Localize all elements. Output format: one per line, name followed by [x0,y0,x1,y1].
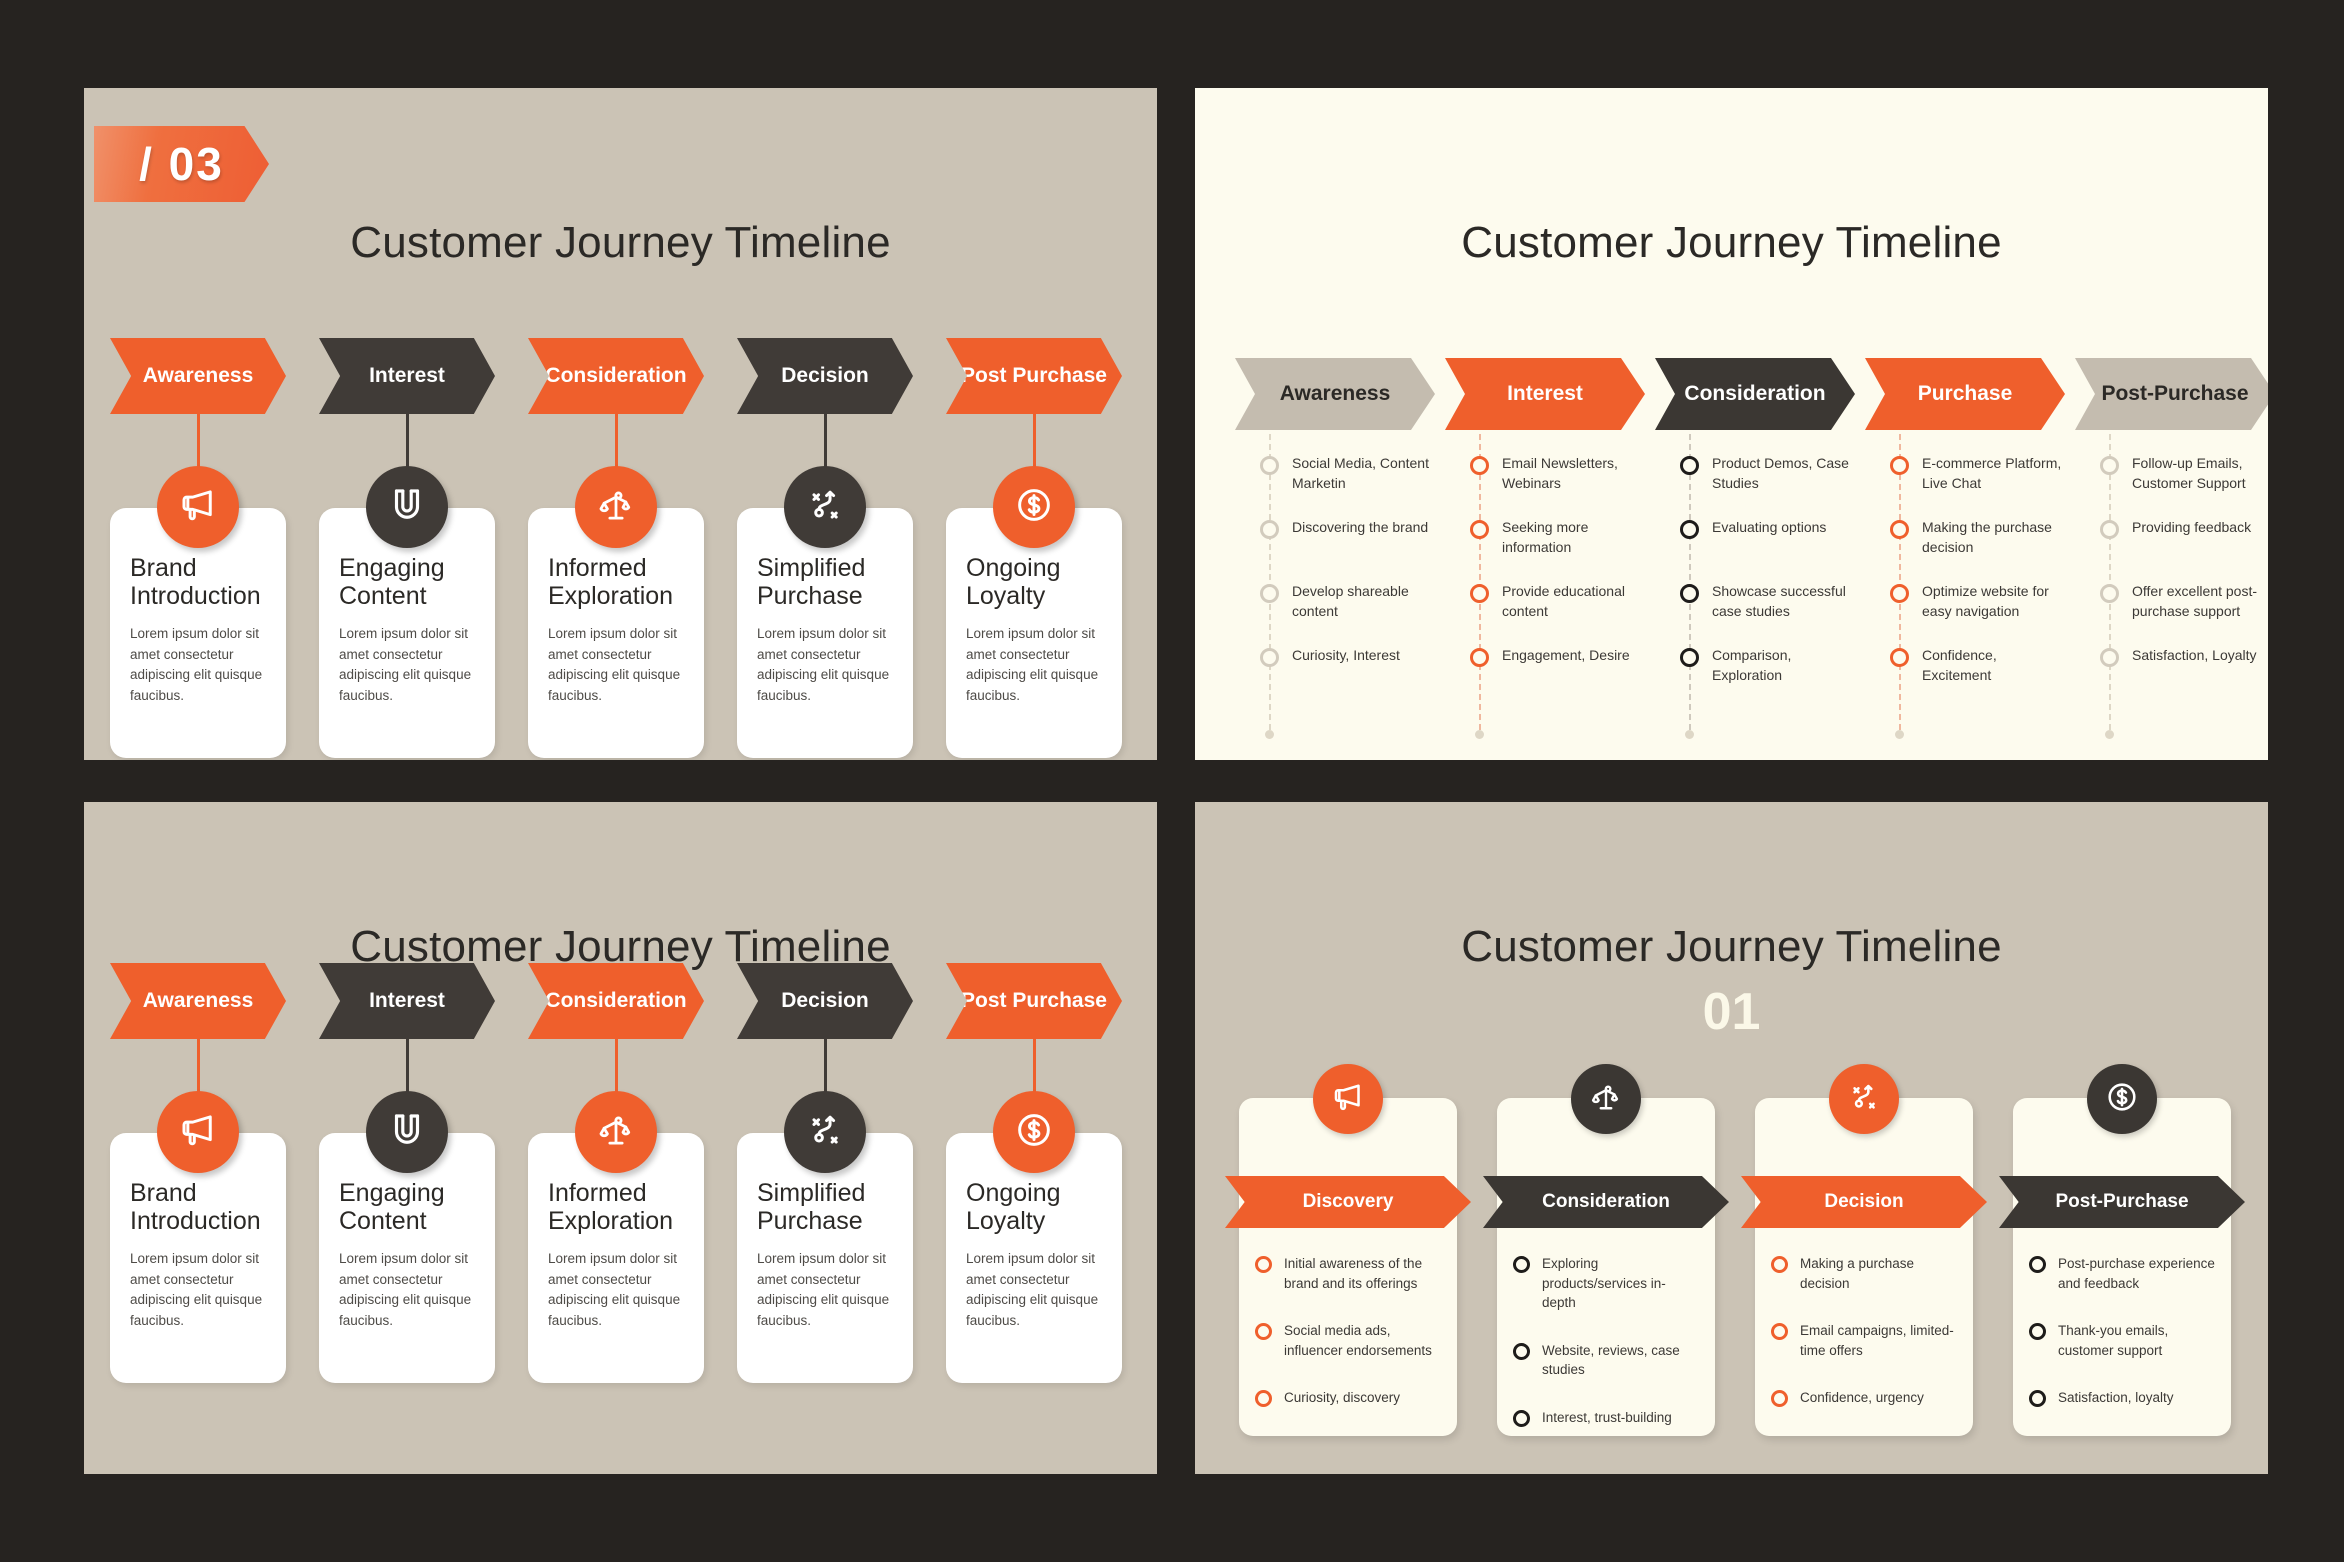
list-item-label: Develop shareable content [1292,582,1435,622]
list-item[interactable]: Provide educational content [1445,582,1645,622]
panel-top-left: / 03 Customer Journey Timeline Awareness… [84,88,1157,760]
list-item[interactable]: Confidence, urgency [1771,1388,1957,1408]
bullet-ring-icon [2029,1256,2046,1273]
stage-card-body: Lorem ipsum dolor sit amet consectetur a… [548,624,684,706]
list-item-label: E-commerce Platform, Live Chat [1922,454,2065,494]
stage-card-heading: Simplified Purchase [757,554,893,610]
list-item-label: Product Demos, Case Studies [1712,454,1855,494]
timeline-end-dot [1265,730,1274,739]
list-item[interactable]: Satisfaction, Loyalty [2075,646,2268,667]
list-item[interactable]: Email campaigns, limited-time offers [1771,1321,1957,1360]
stage-item-list: Initial awareness of the brand and its o… [1239,1254,1457,1436]
stage-chevron-label: Interest [369,989,445,1013]
bullet-ring-icon [1255,1323,1272,1340]
list-item-label: Thank-you emails, customer support [2058,1321,2215,1360]
stage-connector-line [406,414,409,474]
list-item-label: Interest, trust-building [1542,1408,1672,1428]
stage-chevron[interactable]: Decision [737,338,913,414]
list-item-label: Making the purchase decision [1922,518,2065,558]
stage-connector-line [1033,414,1036,474]
bullet-ring-icon [1680,520,1699,539]
stage-chevron-label: Post Purchase [961,989,1107,1013]
scales-icon [1588,1079,1624,1120]
journey-stage-column: InterestEngaging ContentLorem ipsum dolo… [319,338,495,414]
list-item-label: Satisfaction, loyalty [2058,1388,2174,1408]
journey-stage-column: Post PurchaseOngoing LoyaltyLorem ipsum … [946,338,1122,414]
journey-stage-column: AwarenessSocial Media, Content MarketinD… [1235,358,1435,430]
list-item[interactable]: Follow-up Emails, Customer Support [2075,454,2268,494]
stage-icon-bubble[interactable] [2087,1064,2157,1134]
journey-stage-column: ConsiderationProduct Demos, Case Studies… [1655,358,1855,430]
list-item-label: Showcase successful case studies [1712,582,1855,622]
stage-chevron[interactable]: Awareness [110,338,286,414]
list-item[interactable]: Curiosity, discovery [1255,1388,1441,1408]
list-item[interactable]: Website, reviews, case studies [1513,1341,1699,1380]
bullet-ring-icon [1890,456,1909,475]
stage-icon-bubble[interactable] [993,1091,1075,1173]
stage-chevron[interactable]: Discovery [1225,1176,1471,1228]
bullet-ring-icon [1470,456,1489,475]
list-item[interactable]: Making a purchase decision [1771,1254,1957,1293]
stage-chevron[interactable]: Consideration [528,963,704,1039]
list-item-label: Seeking more information [1502,518,1645,558]
stage-icon-bubble[interactable] [157,1091,239,1173]
list-item-label: Evaluating options [1712,518,1826,539]
bullet-ring-icon [1470,584,1489,603]
stage-icon-bubble[interactable] [1829,1064,1899,1134]
list-item-label: Confidence, urgency [1800,1388,1924,1408]
list-item-label: Curiosity, discovery [1284,1388,1400,1408]
timeline-end-dot [1685,730,1694,739]
stage-card-body: Lorem ipsum dolor sit amet consectetur a… [966,1249,1102,1331]
dollar-coin-icon [1013,1109,1055,1156]
stage-card-heading: Brand Introduction [130,554,266,610]
magnet-icon [386,1109,428,1156]
stage-card-heading: Brand Introduction [130,1179,266,1235]
list-item[interactable]: Making the purchase decision [1865,518,2065,558]
stage-chevron[interactable]: Consideration [1655,358,1855,430]
stage-icon-bubble[interactable] [1313,1064,1383,1134]
journey-stage-column: InterestEngaging ContentLorem ipsum dolo… [319,963,495,1039]
list-item-label: Optimize website for easy navigation [1922,582,2065,622]
stage-icon-bubble[interactable] [784,466,866,548]
list-item[interactable]: Develop shareable content [1235,582,1435,622]
timeline-end-dot [2105,730,2114,739]
stage-icon-bubble[interactable] [575,466,657,548]
list-item[interactable]: Satisfaction, loyalty [2029,1388,2215,1408]
list-item[interactable]: Post-purchase experience and feedback [2029,1254,2215,1293]
slide-number-badge: / 03 [94,126,269,202]
bullet-ring-icon [2100,648,2119,667]
journey-stage-column: ConsiderationInformed ExplorationLorem i… [528,338,704,414]
journey-stage-column: Post-PurchaseFollow-up Emails, Customer … [2075,358,2268,430]
timeline-end-dot [1475,730,1484,739]
stage-card-heading: Engaging Content [339,554,475,610]
stage-chevron-label: Purchase [1918,382,2013,406]
stage-item-list: Making a purchase decisionEmail campaign… [1755,1254,1973,1436]
stage-chevron[interactable]: Awareness [110,963,286,1039]
stage-chevron-label: Interest [369,364,445,388]
stage-chevron[interactable]: Consideration [528,338,704,414]
bullet-ring-icon [1260,648,1279,667]
bullet-ring-icon [1890,520,1909,539]
bullet-ring-icon [1771,1323,1788,1340]
list-item[interactable]: Confidence, Excitement [1865,646,2065,686]
stage-chevron-label: Consideration [1542,1191,1670,1213]
stage-item-list: Post-purchase experience and feedbackTha… [2013,1254,2231,1436]
list-item-label: Initial awareness of the brand and its o… [1284,1254,1441,1293]
list-item-label: Engagement, Desire [1502,646,1630,667]
stage-icon-bubble[interactable] [366,1091,448,1173]
stage-chevron-label: Consideration [545,989,686,1013]
list-item-label: Comparison, Exploration [1712,646,1855,686]
dollar-coin-icon [2104,1079,2140,1120]
list-item[interactable]: Providing feedback [2075,518,2268,539]
bullet-ring-icon [1513,1410,1530,1427]
stage-card-heading: Ongoing Loyalty [966,1179,1102,1235]
stage-icon-bubble[interactable] [157,466,239,548]
list-item-label: Offer excellent post-purchase support [2132,582,2268,622]
bullet-ring-icon [1255,1390,1272,1407]
stage-chevron-label: Awareness [1280,382,1391,406]
page-title: Customer Journey Timeline [1195,218,2268,268]
stage-chevron[interactable]: Decision [1741,1176,1987,1228]
stage-chevron[interactable]: Consideration [1483,1176,1729,1228]
list-item[interactable]: Initial awareness of the brand and its o… [1255,1254,1441,1293]
bullet-ring-icon [2100,456,2119,475]
bullet-ring-icon [1771,1256,1788,1273]
stage-connector-line [824,1039,827,1099]
journey-stage-column: AwarenessBrand IntroductionLorem ipsum d… [110,963,286,1039]
journey-stage-column: DecisionSimplified PurchaseLorem ipsum d… [737,963,913,1039]
stage-card-body: Lorem ipsum dolor sit amet consectetur a… [966,624,1102,706]
stage-icon-bubble[interactable] [784,1091,866,1173]
stage-card-heading: Ongoing Loyalty [966,554,1102,610]
stage-chevron-label: Post-Purchase [2055,1191,2188,1213]
stage-chevron-label: Consideration [545,364,686,388]
stage-chevron-label: Decision [781,989,869,1013]
list-item[interactable]: Seeking more information [1445,518,1645,558]
bullet-ring-icon [1771,1390,1788,1407]
stage-card-body: Lorem ipsum dolor sit amet consectetur a… [339,1249,475,1331]
bullet-ring-icon [1680,584,1699,603]
list-item-label: Exploring products/services in-depth [1542,1254,1699,1313]
list-item-label: Email campaigns, limited-time offers [1800,1321,1957,1360]
stage-chevron-label: Post-Purchase [2101,382,2248,406]
page-title: Customer Journey Timeline [84,218,1157,268]
stage-icon-bubble[interactable] [575,1091,657,1173]
list-item[interactable]: Product Demos, Case Studies [1655,454,1855,494]
journey-stage-column: PurchaseE-commerce Platform, Live ChatMa… [1865,358,2065,430]
list-item[interactable]: Social media ads, influencer endorsement… [1255,1321,1441,1360]
stage-card-heading: Engaging Content [339,1179,475,1235]
list-item[interactable]: Engagement, Desire [1445,646,1645,667]
stage-card-body: Lorem ipsum dolor sit amet consectetur a… [757,1249,893,1331]
bullet-ring-icon [1255,1256,1272,1273]
stage-connector-line [197,1039,200,1099]
list-item-label: Follow-up Emails, Customer Support [2132,454,2268,494]
list-item[interactable]: Discovering the brand [1235,518,1435,539]
badge-label: / 03 [139,137,224,191]
stage-chevron[interactable]: Purchase [1865,358,2065,430]
journey-stage-column: ConsiderationInformed ExplorationLorem i… [528,963,704,1039]
list-item[interactable]: Social Media, Content Marketin [1235,454,1435,494]
bullet-ring-icon [1260,456,1279,475]
scales-icon [595,484,637,531]
strategy-icon [1846,1079,1882,1120]
strategy-icon [804,1109,846,1156]
list-item[interactable]: Curiosity, Interest [1235,646,1435,667]
slide-number: 01 [1195,982,2268,1042]
bullet-ring-icon [1513,1343,1530,1360]
stage-chevron-label: Decision [781,364,869,388]
stage-card-body: Lorem ipsum dolor sit amet consectetur a… [130,624,266,706]
list-item[interactable]: Interest, trust-building [1513,1408,1699,1428]
list-item[interactable]: E-commerce Platform, Live Chat [1865,454,2065,494]
stage-chevron[interactable]: Awareness [1235,358,1435,430]
stage-card-body: Lorem ipsum dolor sit amet consectetur a… [757,624,893,706]
list-item[interactable]: Optimize website for easy navigation [1865,582,2065,622]
stage-chevron[interactable]: Decision [737,963,913,1039]
list-item[interactable]: Email Newsletters, Webinars [1445,454,1645,494]
list-item-label: Email Newsletters, Webinars [1502,454,1645,494]
stage-icon-bubble[interactable] [993,466,1075,548]
list-item-label: Confidence, Excitement [1922,646,2065,686]
stage-chevron-label: Discovery [1303,1191,1394,1213]
strategy-icon [804,484,846,531]
bullet-ring-icon [1890,648,1909,667]
stage-chevron[interactable]: Post Purchase [946,338,1122,414]
journey-stage-column: AwarenessBrand IntroductionLorem ipsum d… [110,338,286,414]
panel-bottom-left: Customer Journey Timeline AwarenessBrand… [84,802,1157,1474]
list-item[interactable]: Thank-you emails, customer support [2029,1321,2215,1360]
stage-card-heading: Simplified Purchase [757,1179,893,1235]
bullet-ring-icon [1260,584,1279,603]
journey-stage-column: InterestEmail Newsletters, WebinarsSeeki… [1445,358,1645,430]
panel-top-right: Customer Journey Timeline AwarenessSocia… [1195,88,2268,760]
megaphone-icon [177,484,219,531]
bullet-ring-icon [1890,584,1909,603]
stage-card-body: Lorem ipsum dolor sit amet consectetur a… [339,624,475,706]
bullet-ring-icon [2029,1390,2046,1407]
stage-item-list: Exploring products/services in-depthWebs… [1497,1254,1715,1455]
stage-connector-line [1033,1039,1036,1099]
stage-icon-bubble[interactable] [366,466,448,548]
stage-card-body: Lorem ipsum dolor sit amet consectetur a… [130,1249,266,1331]
list-item-label: Satisfaction, Loyalty [2132,646,2257,667]
bullet-ring-icon [1260,520,1279,539]
list-item[interactable]: Exploring products/services in-depth [1513,1254,1699,1313]
list-item-label: Making a purchase decision [1800,1254,1957,1293]
scales-icon [595,1109,637,1156]
bullet-ring-icon [1680,648,1699,667]
bullet-ring-icon [2029,1323,2046,1340]
list-item[interactable]: Comparison, Exploration [1655,646,1855,686]
list-item-label: Curiosity, Interest [1292,646,1400,667]
stage-chevron[interactable]: Interest [319,338,495,414]
bullet-ring-icon [2100,520,2119,539]
journey-stage-column: Post PurchaseOngoing LoyaltyLorem ipsum … [946,963,1122,1039]
journey-stage-column: DecisionSimplified PurchaseLorem ipsum d… [737,338,913,414]
list-item-label: Discovering the brand [1292,518,1428,539]
stage-chevron-label: Post Purchase [961,364,1107,388]
magnet-icon [386,484,428,531]
stage-chevron-label: Decision [1824,1191,1903,1213]
stage-chevron-label: Awareness [143,364,254,388]
list-item[interactable]: Evaluating options [1655,518,1855,539]
stage-chevron[interactable]: Post-Purchase [1999,1176,2245,1228]
stage-chevron[interactable]: Post Purchase [946,963,1122,1039]
stage-connector-line [406,1039,409,1099]
bullet-ring-icon [1513,1256,1530,1273]
page-title: Customer Journey Timeline [1195,922,2268,972]
dollar-coin-icon [1013,484,1055,531]
list-item[interactable]: Offer excellent post-purchase support [2075,582,2268,622]
stage-chevron[interactable]: Interest [1445,358,1645,430]
list-item-label: Providing feedback [2132,518,2251,539]
megaphone-icon [177,1109,219,1156]
stage-connector-line [197,414,200,474]
stage-card-body: Lorem ipsum dolor sit amet consectetur a… [548,1249,684,1331]
stage-icon-bubble[interactable] [1571,1064,1641,1134]
list-item-label: Provide educational content [1502,582,1645,622]
stage-chevron-label: Consideration [1684,382,1825,406]
bullet-ring-icon [1470,520,1489,539]
timeline-end-dot [1895,730,1904,739]
stage-connector-line [615,414,618,474]
stage-card-heading: Informed Exploration [548,554,684,610]
stage-connector-line [824,414,827,474]
panel-bottom-right: Customer Journey Timeline 01 DiscoveryIn… [1195,802,2268,1474]
list-item-label: Post-purchase experience and feedback [2058,1254,2215,1293]
stage-card-heading: Informed Exploration [548,1179,684,1235]
megaphone-icon [1330,1079,1366,1120]
stage-chevron[interactable]: Interest [319,963,495,1039]
stage-chevron[interactable]: Post-Purchase [2075,358,2268,430]
bullet-ring-icon [1470,648,1489,667]
slide-canvas: / 03 Customer Journey Timeline Awareness… [0,0,2344,1562]
stage-connector-line [615,1039,618,1099]
bullet-ring-icon [2100,584,2119,603]
list-item-label: Social Media, Content Marketin [1292,454,1435,494]
list-item-label: Website, reviews, case studies [1542,1341,1699,1380]
stage-chevron-label: Interest [1507,382,1583,406]
list-item-label: Social media ads, influencer endorsement… [1284,1321,1441,1360]
list-item[interactable]: Showcase successful case studies [1655,582,1855,622]
stage-chevron-label: Awareness [143,989,254,1013]
bullet-ring-icon [1680,456,1699,475]
